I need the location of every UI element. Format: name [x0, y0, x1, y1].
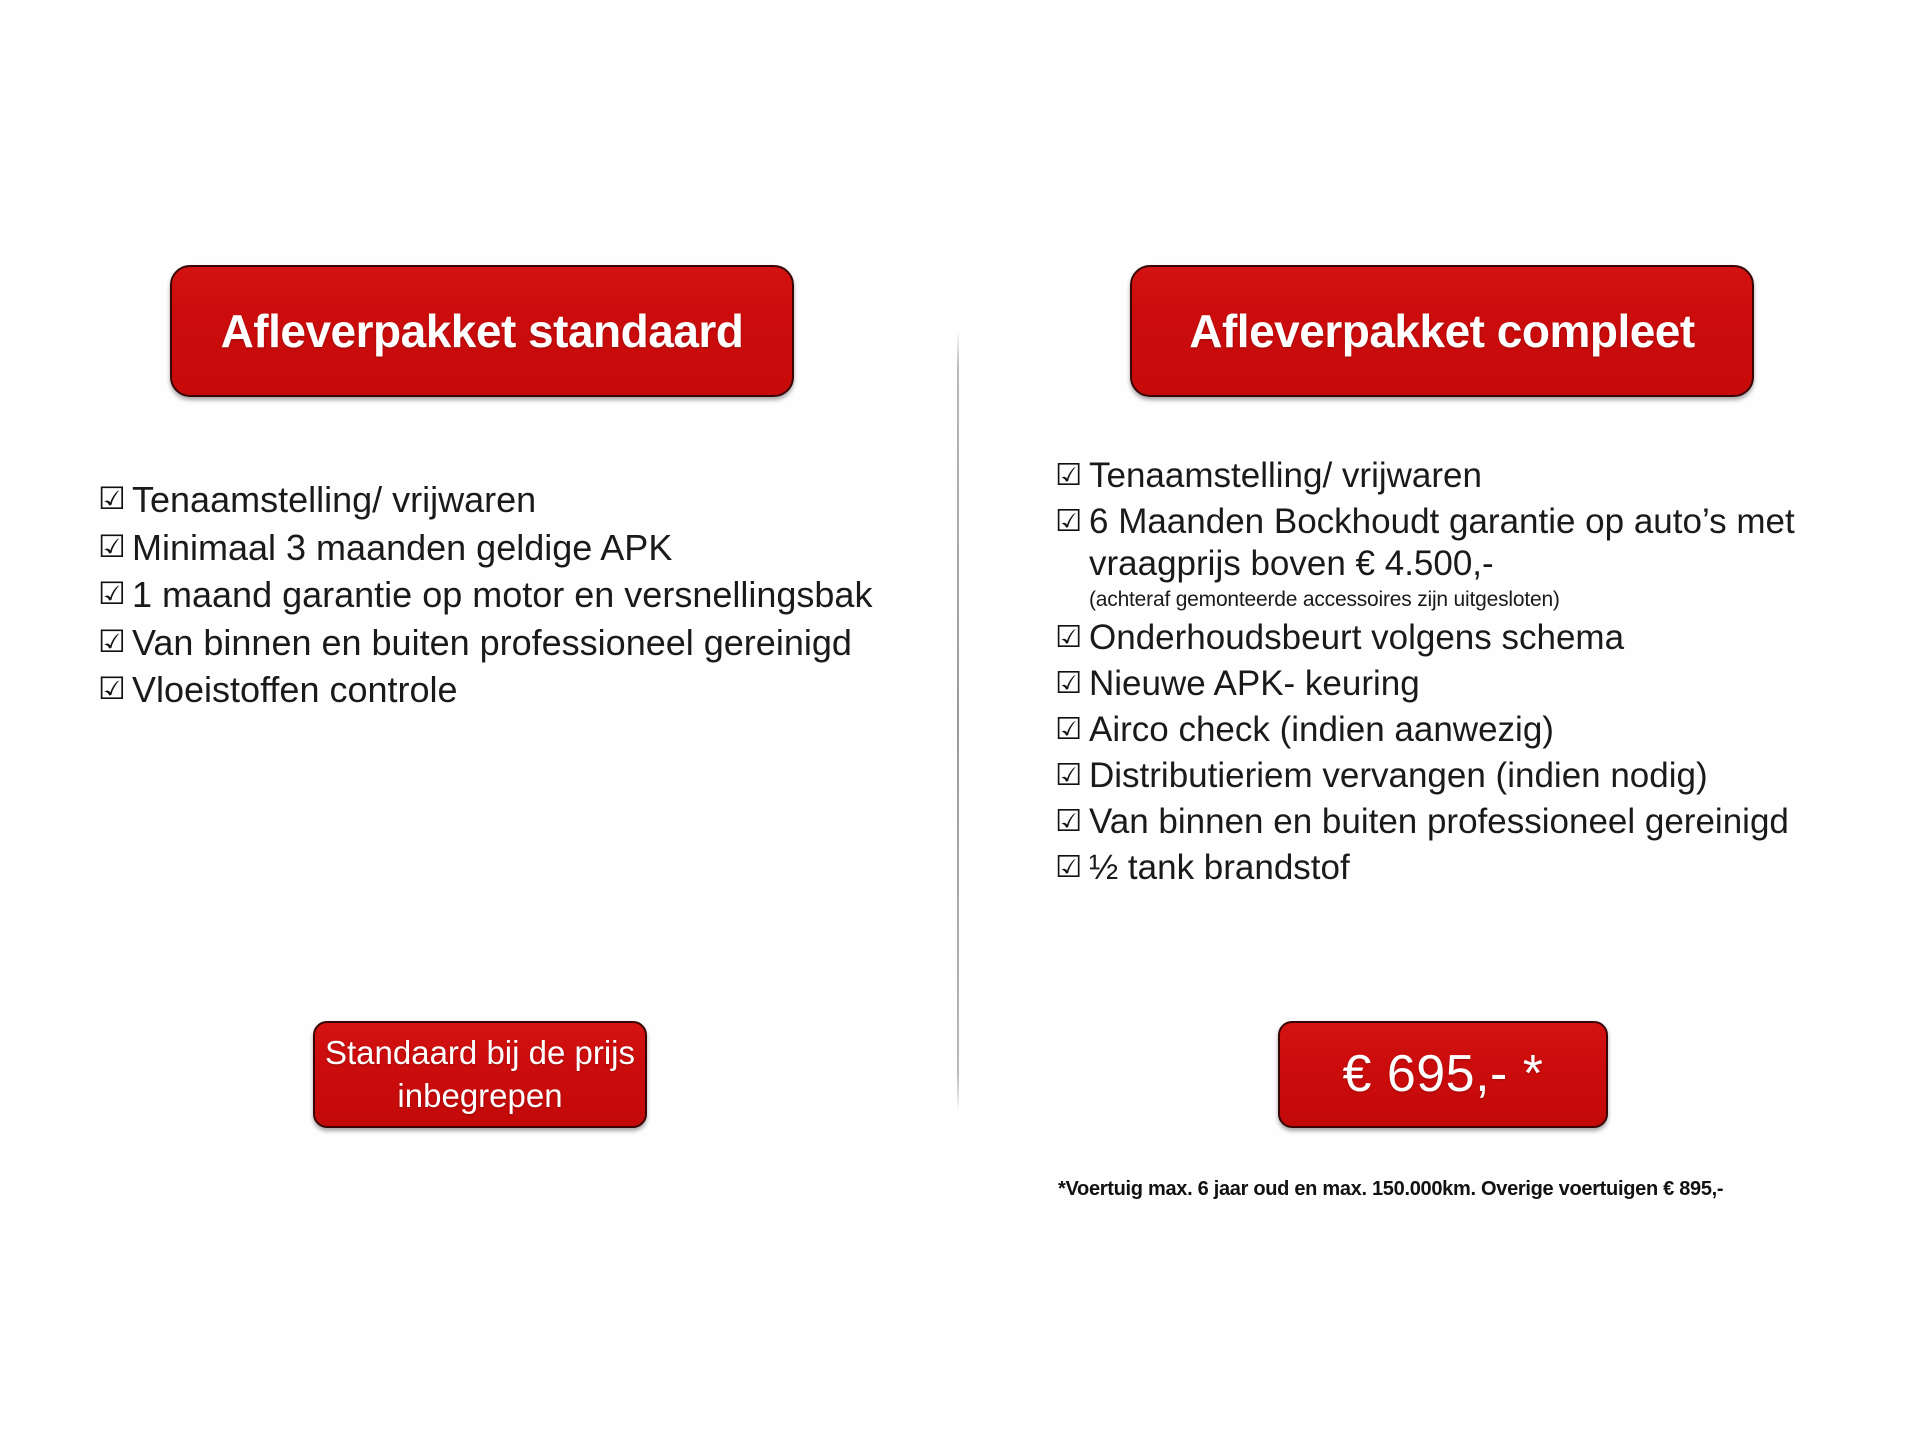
checked-box-icon: ☑ [1055, 755, 1089, 797]
price-pill-label-compleet: € 695,- * [1342, 1041, 1543, 1108]
price-pill-compleet[interactable]: € 695,- * [1278, 1021, 1608, 1128]
package-title-standaard: Afleverpakket standaard [221, 304, 744, 358]
feature-list-compleet: ☑ Tenaamstelling/ vrijwaren ☑ 6 Maanden … [1055, 455, 1875, 893]
checked-box-icon: ☑ [98, 573, 132, 616]
checked-box-icon: ☑ [98, 668, 132, 711]
list-item: ☑ Vloeistoffen controle [98, 668, 888, 712]
feature-label: Tenaamstelling/ vrijwaren [132, 478, 888, 522]
column-divider [957, 330, 959, 1112]
feature-label: 6 Maanden Bockhoudt garantie op auto’s m… [1089, 501, 1875, 613]
checked-box-icon: ☑ [1055, 847, 1089, 889]
list-item: ☑ Distributieriem vervangen (indien nodi… [1055, 755, 1875, 797]
checked-box-icon: ☑ [1055, 455, 1089, 497]
package-title-compleet: Afleverpakket compleet [1189, 304, 1694, 358]
feature-label: Vloeistoffen controle [132, 668, 888, 712]
feature-label: Tenaamstelling/ vrijwaren [1089, 455, 1875, 497]
list-item: ☑ Tenaamstelling/ vrijwaren [98, 478, 888, 522]
feature-label: Van binnen en buiten professioneel gerei… [1089, 801, 1875, 843]
feature-label-note: (achteraf gemonteerde accessoires zijn u… [1089, 587, 1875, 613]
list-item: ☑ Van binnen en buiten professioneel ger… [98, 621, 888, 665]
list-item: ☑ Onderhoudsbeurt volgens schema [1055, 617, 1875, 659]
checked-box-icon: ☑ [98, 621, 132, 664]
feature-label: Minimaal 3 maanden geldige APK [132, 526, 888, 570]
list-item: ☑ 6 Maanden Bockhoudt garantie op auto’s… [1055, 501, 1875, 613]
price-footnote: *Voertuig max. 6 jaar oud en max. 150.00… [1058, 1178, 1888, 1201]
checked-box-icon: ☑ [1055, 801, 1089, 843]
feature-label: Nieuwe APK- keuring [1089, 663, 1875, 705]
price-pill-label-standaard: Standaard bij de prijs inbegrepen [315, 1032, 645, 1116]
list-item: ☑ Van binnen en buiten professioneel ger… [1055, 801, 1875, 843]
checked-box-icon: ☑ [1055, 501, 1089, 543]
feature-label-main: 6 Maanden Bockhoudt garantie op auto’s m… [1089, 502, 1795, 583]
list-item: ☑ ½ tank brandstof [1055, 847, 1875, 889]
feature-label: Airco check (indien aanwezig) [1089, 709, 1875, 751]
feature-label: 1 maand garantie op motor en versnelling… [132, 573, 888, 617]
list-item: ☑ Tenaamstelling/ vrijwaren [1055, 455, 1875, 497]
feature-list-standaard: ☑ Tenaamstelling/ vrijwaren ☑ Minimaal 3… [98, 478, 888, 716]
feature-label: Van binnen en buiten professioneel gerei… [132, 621, 888, 665]
feature-label: Distributieriem vervangen (indien nodig) [1089, 755, 1875, 797]
feature-label: ½ tank brandstof [1089, 847, 1875, 889]
checked-box-icon: ☑ [1055, 617, 1089, 659]
checked-box-icon: ☑ [98, 526, 132, 569]
package-title-banner-standaard: Afleverpakket standaard [170, 265, 794, 397]
list-item: ☑ Nieuwe APK- keuring [1055, 663, 1875, 705]
list-item: ☑ 1 maand garantie op motor en versnelli… [98, 573, 888, 617]
price-pill-standaard[interactable]: Standaard bij de prijs inbegrepen [313, 1021, 647, 1128]
package-title-banner-compleet: Afleverpakket compleet [1130, 265, 1754, 397]
checked-box-icon: ☑ [1055, 663, 1089, 705]
feature-label: Onderhoudsbeurt volgens schema [1089, 617, 1875, 659]
checked-box-icon: ☑ [98, 478, 132, 521]
list-item: ☑ Minimaal 3 maanden geldige APK [98, 526, 888, 570]
checked-box-icon: ☑ [1055, 709, 1089, 751]
list-item: ☑ Airco check (indien aanwezig) [1055, 709, 1875, 751]
slide-canvas: Afleverpakket standaard ☑ Tenaamstelling… [0, 0, 1920, 1440]
